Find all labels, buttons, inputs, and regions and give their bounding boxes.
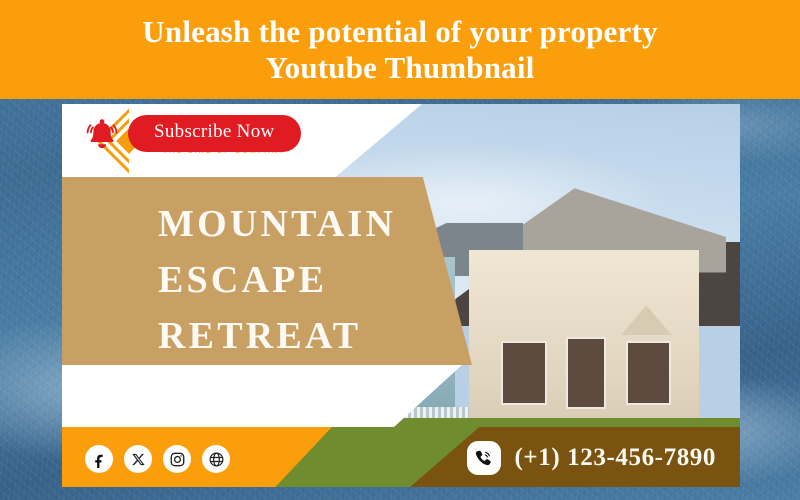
- window: [501, 341, 546, 405]
- thumbnail-mockup-canvas: Unleash the potential of your property Y…: [0, 0, 800, 500]
- subscribe-button[interactable]: Subscribe Now: [128, 115, 301, 152]
- phone-number: (+1) 123-456-7890: [515, 444, 717, 472]
- bell-icon: [80, 113, 124, 157]
- headline-line-2: Youtube Thumbnail: [265, 50, 534, 86]
- headline-line-1: Unleash the potential of your property: [142, 14, 657, 50]
- title-line-1: MOUNTAIN: [158, 196, 396, 252]
- window: [566, 337, 607, 409]
- thumbnail-title: MOUNTAIN ESCAPE RETREAT: [158, 196, 396, 364]
- headline-banner: Unleash the potential of your property Y…: [0, 0, 800, 99]
- facebook-icon[interactable]: [85, 445, 113, 473]
- title-line-2: ESCAPE: [158, 252, 396, 308]
- house-b-gable: [621, 305, 672, 335]
- phone-contact: (+1) 123-456-7890: [467, 441, 717, 475]
- subscribe-band: [62, 365, 462, 427]
- youtube-thumbnail-card: BUSINESS LOGO TAG LINE OF COMPANY MOUNTA…: [62, 104, 740, 487]
- social-links: [85, 445, 230, 473]
- title-line-3: RETREAT: [158, 308, 396, 364]
- phone-icon: [467, 441, 501, 475]
- instagram-icon[interactable]: [163, 445, 191, 473]
- globe-icon[interactable]: [202, 445, 230, 473]
- window: [626, 341, 671, 405]
- x-twitter-icon[interactable]: [124, 445, 152, 473]
